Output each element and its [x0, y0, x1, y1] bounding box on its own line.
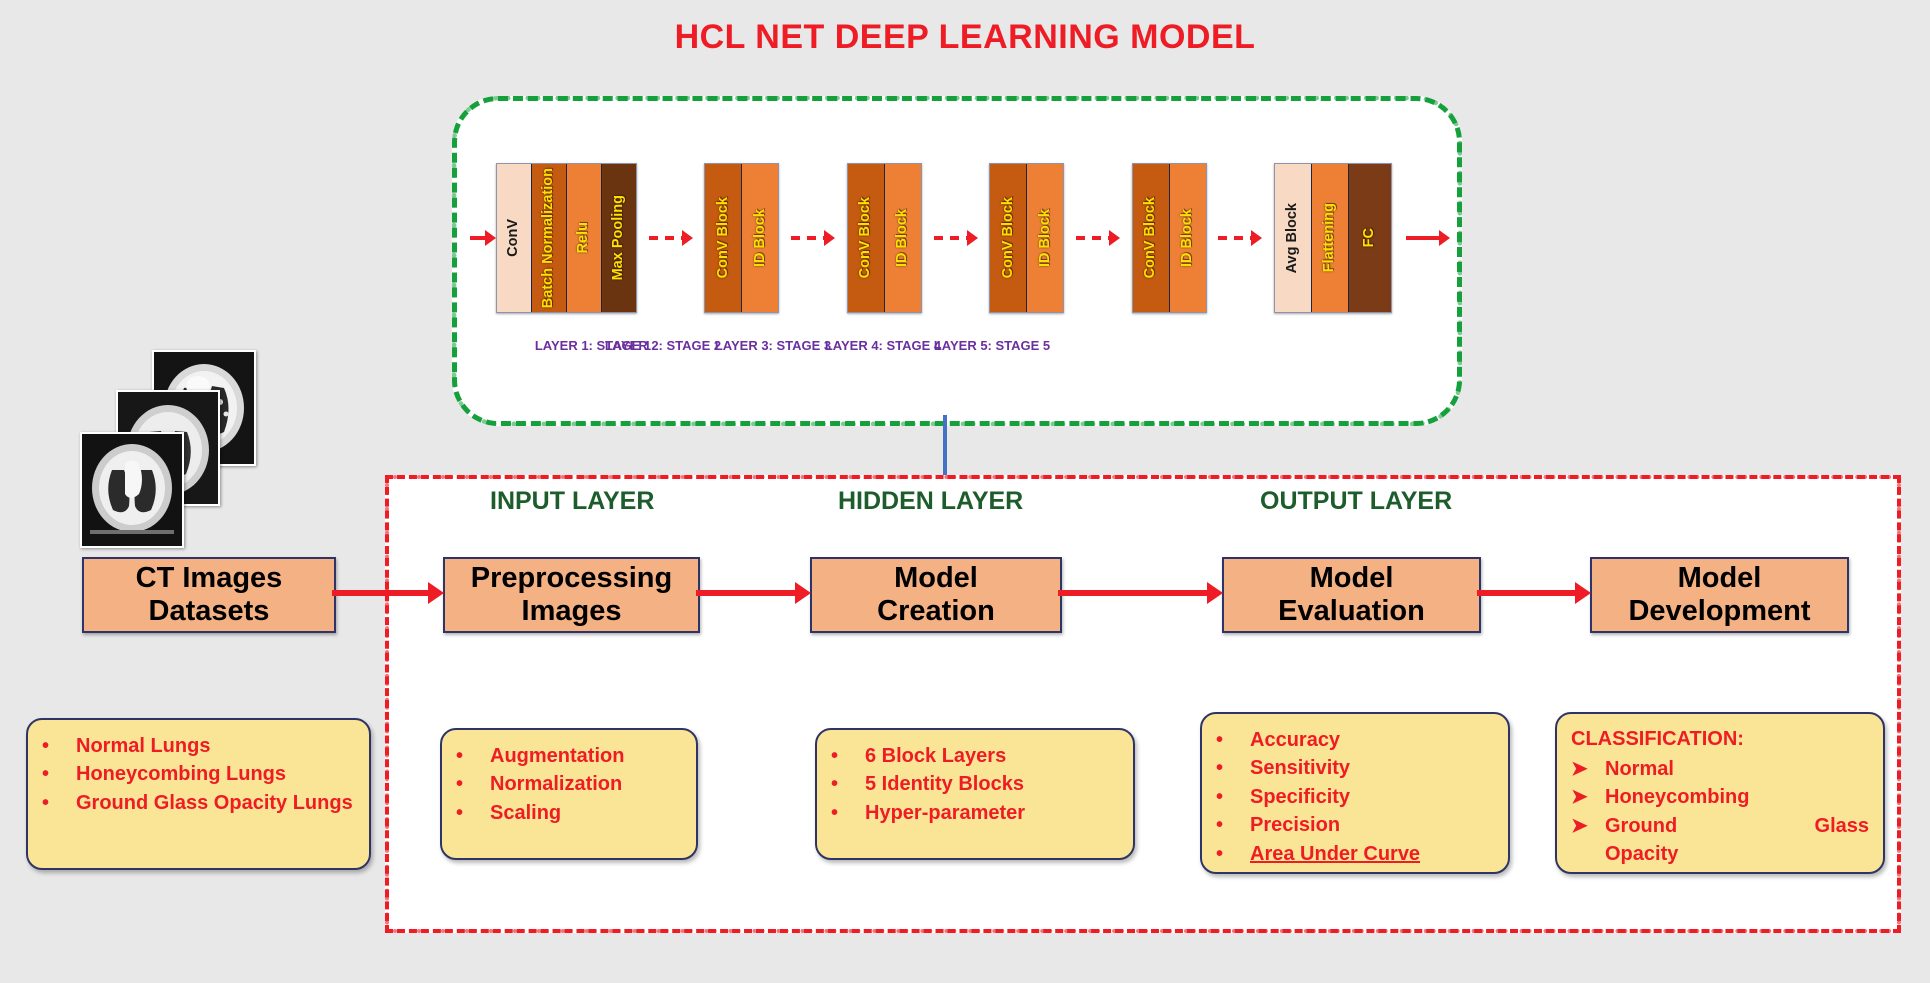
- cnn-block-batch-normalization[interactable]: Batch Normalization: [532, 164, 567, 312]
- cnn-arrow-spacer: [922, 231, 989, 245]
- list-item: ➤GroundGlass: [1571, 812, 1869, 840]
- cnn-arrow-spacer: [779, 231, 846, 245]
- bullet-dot-icon: •: [831, 799, 865, 827]
- cnn-block-label: Relu: [576, 222, 591, 253]
- cnn-block-label: ID Block: [753, 209, 768, 267]
- bullet-dot-icon: •: [1216, 754, 1250, 782]
- cnn-stage-group-1[interactable]: ConVBatch NormalizationReluMax Pooling: [496, 163, 637, 313]
- process-box-line2: Creation: [877, 595, 995, 627]
- process-box-preprocessing-images[interactable]: Preprocessing Images: [443, 557, 700, 633]
- list-item-label: Sensitivity: [1250, 754, 1494, 782]
- list-item-label: 5 Identity Blocks: [865, 770, 1119, 798]
- cnn-block-conv[interactable]: ConV: [497, 164, 532, 312]
- cnn-stage-group-3[interactable]: ConV BlockID Block: [847, 163, 922, 313]
- cnn-arrow-5: [1218, 231, 1262, 245]
- process-box-line2: Images: [522, 595, 622, 627]
- cnn-block-label: ConV: [506, 219, 521, 257]
- cnn-block-max-pooling[interactable]: Max Pooling: [602, 164, 636, 312]
- flow-arrow-4: [1477, 585, 1591, 601]
- list-item-label: Scaling: [490, 799, 682, 827]
- flow-arrow-1: [332, 585, 444, 601]
- list-item-label: Ground Glass Opacity Lungs: [76, 789, 355, 817]
- bullet-dot-icon: •: [1216, 783, 1250, 811]
- cnn-stage-label-5: LAYER 5: STAGE 5: [917, 338, 1067, 353]
- cnn-arrow-spacer: [1064, 231, 1131, 245]
- list-item: ➤Normal: [1571, 755, 1869, 783]
- cnn-block-label: Avg Block: [1285, 203, 1300, 273]
- list-item-label: Precision: [1250, 811, 1494, 839]
- card-list: ➤Normal➤Honeycombing➤GroundGlassOpacity: [1571, 755, 1869, 869]
- cnn-block-label: ID Block: [1180, 209, 1195, 267]
- diagram-canvas: HCL NET DEEP LEARNING MODEL ConVBatch No…: [0, 0, 1930, 983]
- list-item-label: Honeycombing: [1605, 783, 1869, 811]
- cnn-block-label: Flattening: [1322, 203, 1337, 272]
- bullet-arrow-icon: ➤: [1571, 812, 1605, 840]
- bullet-dot-icon: •: [42, 760, 76, 788]
- list-item: •5 Identity Blocks: [831, 770, 1119, 798]
- card-list: •Accuracy•Sensitivity•Specificity•Precis…: [1216, 726, 1494, 868]
- list-item: •Augmentation: [456, 742, 682, 770]
- card-evaluation-metrics[interactable]: •Accuracy•Sensitivity•Specificity•Precis…: [1200, 712, 1510, 874]
- process-box-line1: Model: [894, 562, 978, 594]
- bullet-dot-icon: •: [456, 799, 490, 827]
- cnn-block-label: FC: [1362, 228, 1377, 247]
- bullet-dot-icon: •: [1216, 840, 1250, 868]
- flow-arrow-3: [1058, 585, 1223, 601]
- layer-heading-hidden: HIDDEN LAYER: [838, 487, 1023, 516]
- cnn-block-label: ConV Block: [1143, 197, 1158, 278]
- list-item: •Accuracy: [1216, 726, 1494, 754]
- list-item: •Sensitivity: [1216, 754, 1494, 782]
- process-box-line2: Development: [1628, 595, 1810, 627]
- list-item-label: Specificity: [1250, 783, 1494, 811]
- card-classification-output[interactable]: CLASSIFICATION:➤Normal➤Honeycombing➤Grou…: [1555, 712, 1885, 874]
- bullet-dot-icon: •: [42, 789, 76, 817]
- bullet-arrow-icon: ➤: [1571, 755, 1605, 783]
- bullet-dot-icon: •: [1216, 726, 1250, 754]
- card-dataset-classes[interactable]: •Normal Lungs•Honeycombing Lungs•Ground …: [26, 718, 371, 870]
- cnn-stage-group-2[interactable]: ConV BlockID Block: [704, 163, 779, 313]
- cnn-block-conv-block[interactable]: ConV Block: [705, 164, 742, 312]
- list-item: •Hyper-parameter: [831, 799, 1119, 827]
- process-box-ct-images-datasets[interactable]: CT Images Datasets: [82, 557, 336, 633]
- bullet-dot-icon: •: [456, 770, 490, 798]
- cnn-output-arrow-wrap: [1406, 231, 1450, 245]
- bullet-dot-icon: •: [1216, 811, 1250, 839]
- ct-scan-thumbnails: [80, 350, 260, 540]
- process-box-line1: Preprocessing: [471, 562, 672, 594]
- list-item: •6 Block Layers: [831, 742, 1119, 770]
- list-item-label: Honeycombing Lungs: [76, 760, 355, 788]
- process-box-model-creation[interactable]: Model Creation: [810, 557, 1062, 633]
- cnn-stage-group-5[interactable]: ConV BlockID Block: [1132, 163, 1207, 313]
- bullet-dot-icon: •: [831, 770, 865, 798]
- process-box-line2: Datasets: [149, 595, 270, 627]
- list-item-label-left: Ground: [1605, 812, 1677, 840]
- cnn-block-label: ConV Block: [858, 197, 873, 278]
- cnn-block-fc[interactable]: FC: [1349, 164, 1391, 312]
- cnn-block-label: ConV Block: [716, 197, 731, 278]
- cnn-block-row: ConVBatch NormalizationReluMax PoolingCo…: [470, 148, 1450, 328]
- card-list: •Normal Lungs•Honeycombing Lungs•Ground …: [42, 732, 355, 817]
- cnn-arrow-3: [934, 231, 978, 245]
- layer-heading-input: INPUT LAYER: [490, 487, 654, 516]
- bullet-dot-icon: •: [42, 732, 76, 760]
- cnn-stage-group-6[interactable]: Avg BlockFlatteningFC: [1274, 163, 1392, 313]
- card-heading: CLASSIFICATION:: [1571, 726, 1869, 753]
- list-item-label: Hyper-parameter: [865, 799, 1119, 827]
- bullet-arrow-icon: ➤: [1571, 783, 1605, 811]
- card-list: •6 Block Layers•5 Identity Blocks•Hyper-…: [831, 742, 1119, 827]
- bullet-dot-icon: •: [456, 742, 490, 770]
- process-box-model-evaluation[interactable]: Model Evaluation: [1222, 557, 1481, 633]
- cnn-block-conv-block[interactable]: ConV Block: [1133, 164, 1170, 312]
- list-item-label: Area Under Curve: [1250, 840, 1494, 868]
- process-box-line2: Evaluation: [1278, 595, 1425, 627]
- bullet-dot-icon: •: [831, 742, 865, 770]
- process-box-model-development[interactable]: Model Development: [1590, 557, 1849, 633]
- cnn-block-conv-block[interactable]: ConV Block: [848, 164, 885, 312]
- layer-heading-output: OUTPUT LAYER: [1260, 487, 1452, 516]
- list-item-label: Normal Lungs: [76, 732, 355, 760]
- cnn-block-avg-block[interactable]: Avg Block: [1275, 164, 1312, 312]
- list-item: •Honeycombing Lungs: [42, 760, 355, 788]
- cnn-arrow-spacer: [637, 231, 704, 245]
- cnn-block-label: ID Block: [895, 209, 910, 267]
- cnn-block-id-block[interactable]: ID Block: [742, 164, 778, 312]
- list-item: •Ground Glass Opacity Lungs: [42, 789, 355, 817]
- list-item: •Normal Lungs: [42, 732, 355, 760]
- cnn-arrow-1: [649, 231, 693, 245]
- list-item-label: Opacity: [1605, 840, 1869, 868]
- process-box-line1: CT Images: [136, 562, 283, 594]
- cnn-arrow-2: [791, 231, 835, 245]
- list-item-label: GroundGlass: [1605, 812, 1869, 840]
- cnn-block-label: Batch Normalization: [541, 168, 556, 308]
- card-model-config[interactable]: •6 Block Layers•5 Identity Blocks•Hyper-…: [815, 728, 1135, 860]
- process-box-line1: Model: [1678, 562, 1762, 594]
- flow-arrow-2: [696, 585, 811, 601]
- cnn-block-id-block[interactable]: ID Block: [885, 164, 921, 312]
- page-title: HCL NET DEEP LEARNING MODEL: [0, 18, 1930, 57]
- list-item-label: Augmentation: [490, 742, 682, 770]
- cnn-arrow-4: [1076, 231, 1120, 245]
- list-item-label: Normalization: [490, 770, 682, 798]
- process-box-line1: Model: [1310, 562, 1394, 594]
- list-item: •Area Under Curve: [1216, 840, 1494, 868]
- cnn-block-flattening[interactable]: Flattening: [1312, 164, 1349, 312]
- bullet-arrow-icon: [1571, 840, 1605, 868]
- list-item-label-right: Glass: [1815, 812, 1869, 840]
- cnn-block-id-block[interactable]: ID Block: [1027, 164, 1063, 312]
- cnn-arrow-spacer: [1207, 231, 1274, 245]
- card-list: •Augmentation•Normalization•Scaling: [456, 742, 682, 827]
- cnn-block-label: ConV Block: [1001, 197, 1016, 278]
- list-item: •Scaling: [456, 799, 682, 827]
- cnn-block-conv-block[interactable]: ConV Block: [990, 164, 1027, 312]
- list-item: •Precision: [1216, 811, 1494, 839]
- cnn-block-label: ID Block: [1038, 209, 1053, 267]
- list-item: •Specificity: [1216, 783, 1494, 811]
- ct-thumbnail-front: [80, 432, 184, 548]
- list-item: ➤Honeycombing: [1571, 783, 1869, 811]
- cnn-input-arrow: [470, 231, 496, 245]
- list-item-label: 6 Block Layers: [865, 742, 1119, 770]
- cnn-block-relu[interactable]: Relu: [567, 164, 602, 312]
- cnn-block-label: Max Pooling: [611, 195, 626, 280]
- list-item-label: Normal: [1605, 755, 1869, 783]
- cnn-output-arrow: [1406, 231, 1450, 245]
- list-item-label: Accuracy: [1250, 726, 1494, 754]
- list-item: •Normalization: [456, 770, 682, 798]
- card-preprocessing-steps[interactable]: •Augmentation•Normalization•Scaling: [440, 728, 698, 860]
- list-item: Opacity: [1571, 840, 1869, 868]
- cnn-block-id-block[interactable]: ID Block: [1170, 164, 1206, 312]
- cnn-stage-group-4[interactable]: ConV BlockID Block: [989, 163, 1064, 313]
